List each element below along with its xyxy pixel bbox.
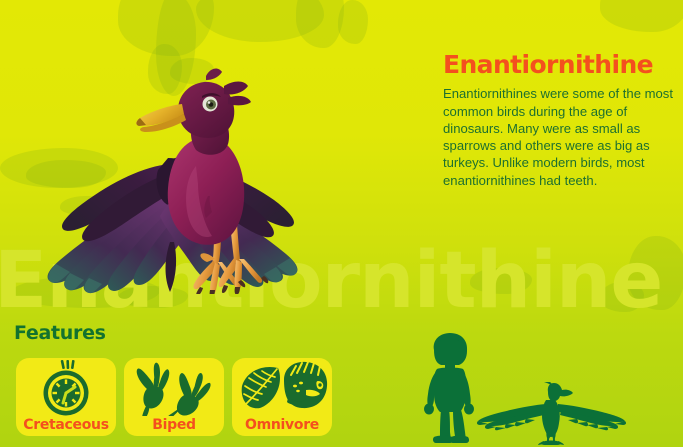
feature-card-biped[interactable]: Biped <box>124 358 224 436</box>
species-info-panel: Enantiornithine Enantiornithines were so… <box>443 52 675 189</box>
bird-head-glyph <box>284 362 327 408</box>
enantiornithine-bird-illustration <box>18 46 328 294</box>
species-info-card: Enantiornithine <box>0 0 683 447</box>
human-child-silhouette-icon <box>414 332 484 444</box>
feature-card-omnivore[interactable]: Omnivore <box>232 358 332 436</box>
species-description: Enantiornithines were some of the most c… <box>443 85 675 189</box>
features-heading: Features <box>14 322 106 344</box>
feature-label-cretaceous: Cretaceous <box>16 417 116 433</box>
features-list: Cretaceous <box>16 358 332 436</box>
bird-silhouette-icon <box>476 382 626 446</box>
feature-label-biped: Biped <box>124 417 224 433</box>
leaf-glyph <box>242 367 280 408</box>
feature-label-omnivore: Omnivore <box>232 417 332 433</box>
page-title: Enantiornithine <box>443 52 675 78</box>
footprints-icon <box>124 360 224 416</box>
bird-head <box>136 69 251 138</box>
stopwatch-icon <box>16 360 116 416</box>
leaf-and-bird-head-icon <box>232 360 332 416</box>
feature-card-cretaceous[interactable]: Cretaceous <box>16 358 116 436</box>
